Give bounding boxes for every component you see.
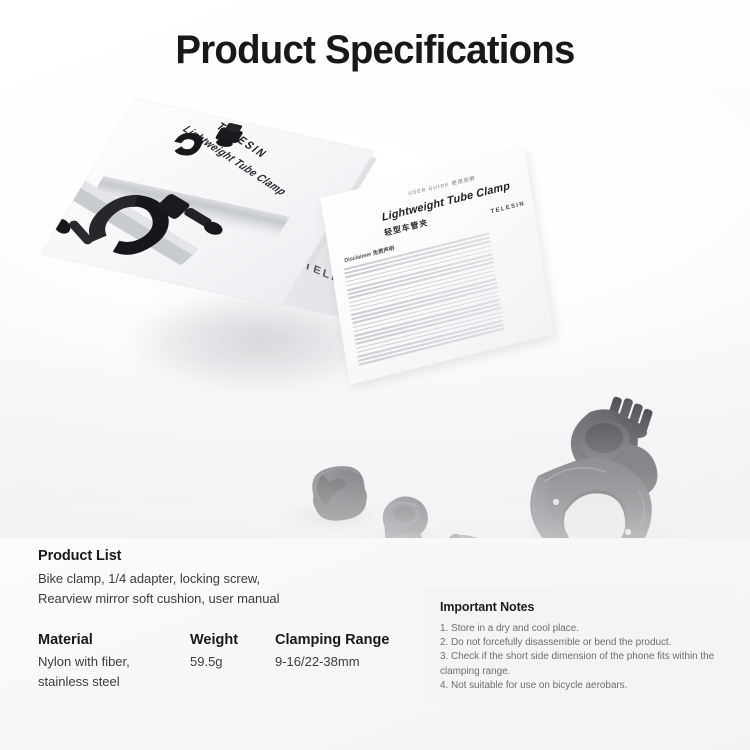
product-list-line-1: Bike clamp, 1/4 adapter, locking screw, xyxy=(38,569,428,589)
product-photo: TELESIN TELESIN Lightweight Tube Clamp xyxy=(0,88,750,538)
specifications-info: Product List Bike clamp, 1/4 adapter, lo… xyxy=(0,540,750,750)
spec-value-material: Nylon with fiber, stainless steel xyxy=(38,648,190,691)
spec-value-weight: 59.5g xyxy=(190,648,275,691)
product-list-section: Product List Bike clamp, 1/4 adapter, lo… xyxy=(38,548,428,608)
important-note-item: 1. Store in a dry and cool place. xyxy=(440,622,728,636)
product-list-heading: Product List xyxy=(38,548,428,564)
page-title: Product Specifications xyxy=(15,26,735,74)
spec-table: Material Weight Clamping Range Nylon wit… xyxy=(38,632,438,691)
loose-parts-group xyxy=(0,88,750,538)
spec-header-row: Material Weight Clamping Range xyxy=(38,632,438,648)
spec-header-weight: Weight xyxy=(190,632,275,648)
spec-header-material: Material xyxy=(38,632,190,648)
important-notes-heading: Important Notes xyxy=(440,600,534,614)
spec-value-row: Nylon with fiber, stainless steel 59.5g … xyxy=(38,648,438,691)
spec-value-clamping-range-line-1: 9-16/22-38mm xyxy=(275,652,360,672)
product-specifications-page: Product Specifications TELESIN TELESIN L… xyxy=(0,0,750,750)
spec-value-weight-line-1: 59.5g xyxy=(190,652,275,672)
spec-value-material-line-1: Nylon with fiber, xyxy=(38,652,190,672)
product-list-body: Bike clamp, 1/4 adapter, locking screw, … xyxy=(38,569,428,608)
important-notes-list: 1. Store in a dry and cool place. 2. Do … xyxy=(440,622,728,693)
important-note-item: 3. Check if the short side dimension of … xyxy=(440,650,728,678)
spec-header-clamping-range: Clamping Range xyxy=(275,632,389,648)
important-note-item: 2. Do not forcefully disassemble or bend… xyxy=(440,636,728,650)
part-bike-clamp xyxy=(442,394,657,538)
important-note-item: 4. Not suitable for use on bicycle aerob… xyxy=(440,679,728,693)
spec-value-clamping-range: 9-16/22-38mm xyxy=(275,648,360,691)
product-list-line-2: Rearview mirror soft cushion, user manua… xyxy=(38,589,428,609)
important-notes-box: Important Notes 1. Store in a dry and co… xyxy=(424,586,736,702)
spec-value-material-line-2: stainless steel xyxy=(38,672,190,692)
clamp-knob xyxy=(442,531,506,538)
